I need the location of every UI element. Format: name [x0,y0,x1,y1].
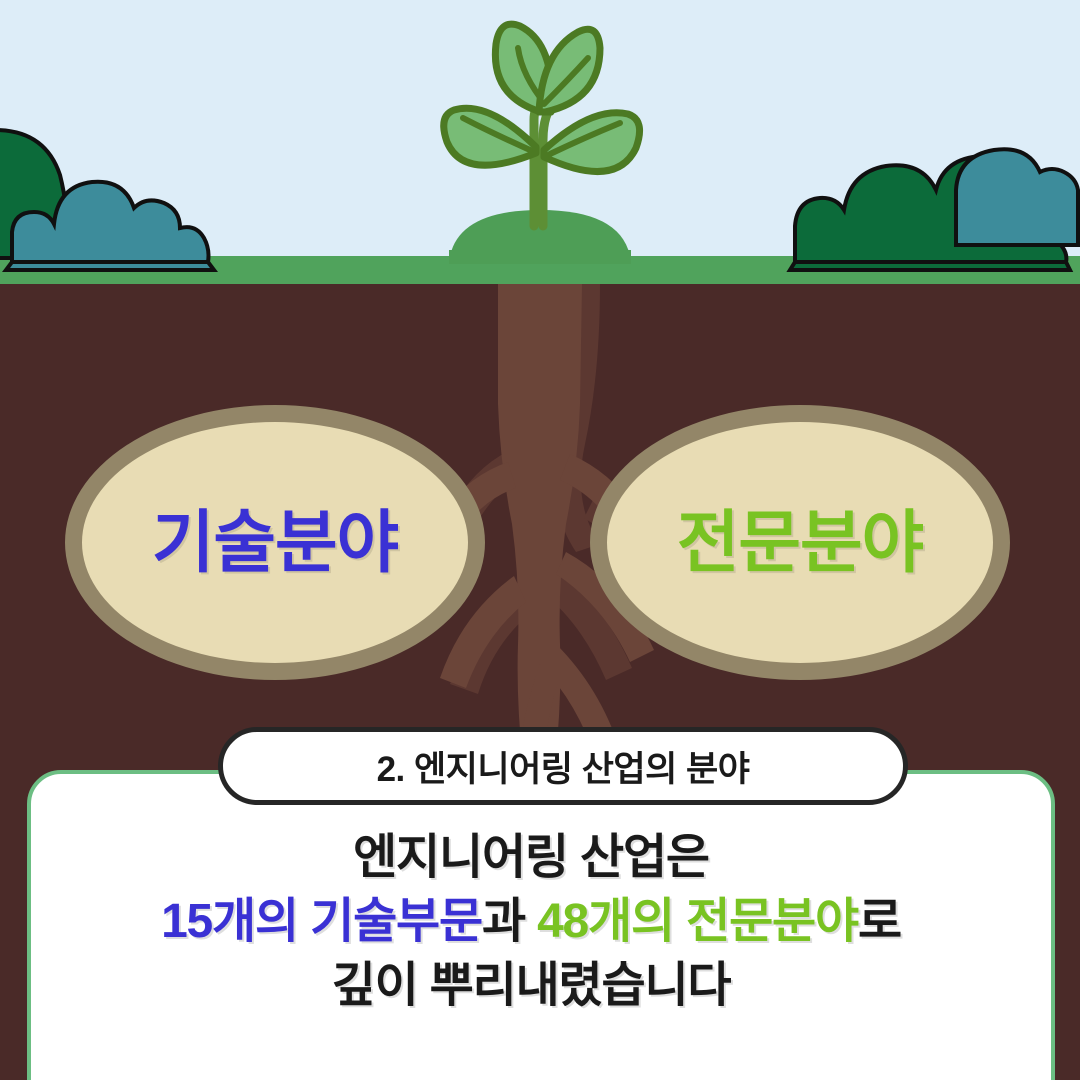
oval-specialty-field-label: 전문분야 [677,509,923,577]
oval-specialty-field[interactable]: 전문분야 [590,405,1010,680]
content-card: 엔지니어링 산업은 15개의 기술부문과 48개의 전문분야로 깊이 뿌리내렸습… [27,770,1055,1080]
bush-far-right-teal [956,149,1078,245]
body-line-1: 엔지니어링 산업은 [31,826,1031,890]
highlight-15-tech-sectors: 15개의 기술부문 [161,895,482,948]
oval-technology-field-label: 기술분야 [152,509,398,577]
oval-technology-field[interactable]: 기술분야 [65,405,485,680]
infographic-canvas: 기술분야 전문분야 엔지니어링 산업은 15개의 기술부문과 48개의 전문분야… [0,0,1080,1080]
highlight-48-specialty-fields: 48개의 전문분야 [537,895,858,948]
body-copy-block: 엔지니어링 산업은 15개의 기술부문과 48개의 전문분야로 깊이 뿌리내렸습… [31,774,1031,1017]
section-title-pill: 2. 엔지니어링 산업의 분야 [218,727,908,805]
above-ground-scene [0,0,1080,300]
body-line-2-conj: 과 [482,895,525,948]
body-line-2: 15개의 기술부문과 48개의 전문분야로 [31,890,1031,954]
sprout-icon [444,24,640,226]
body-line-3: 깊이 뿌리내렸습니다 [31,954,1031,1018]
page-title: 2. 엔지니어링 산업의 분야 [377,741,750,792]
body-line-2-particle: 로 [858,895,901,948]
